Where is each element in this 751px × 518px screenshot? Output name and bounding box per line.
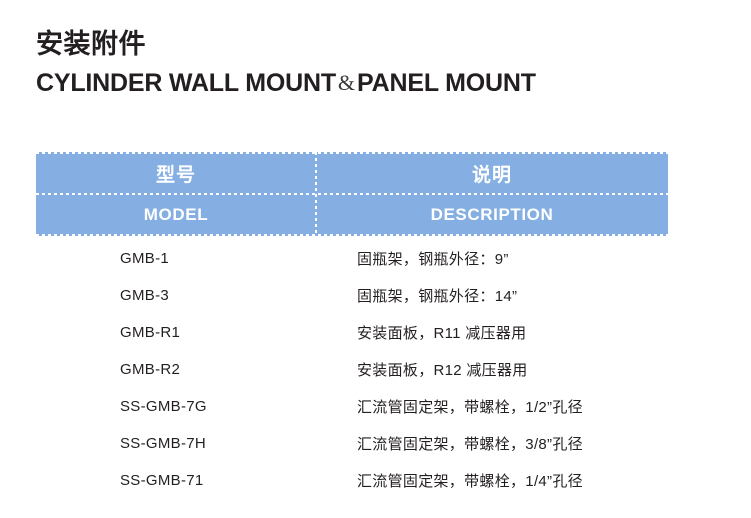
page-title-english-left: CYLINDER WALL MOUNT: [36, 69, 336, 97]
cell-model: GMB-1: [36, 250, 316, 267]
header-cell-model-english: MODEL: [36, 194, 316, 236]
cell-model: SS-GMB-71: [36, 472, 316, 489]
page-title-english-right: PANEL MOUNT: [357, 69, 536, 97]
cell-model: GMB-R1: [36, 324, 316, 341]
header-rule-middle: [36, 193, 668, 195]
header-rule-vertical: [315, 152, 317, 236]
table-header: 型号 说明 MODEL DESCRIPTION: [36, 152, 668, 236]
header-cell-model-chinese: 型号: [36, 152, 316, 194]
header-label-description-english: DESCRIPTION: [431, 205, 554, 225]
header-rule-top: [36, 152, 668, 154]
header-cell-description-chinese: 说明: [316, 152, 668, 194]
header-label-model-chinese: 型号: [156, 160, 196, 187]
table-row: GMB-R1安装面板，R11 减压器用: [36, 314, 668, 351]
table-row: SS-GMB-71汇流管固定架，带螺栓，1/4”孔径: [36, 462, 668, 499]
header-label-description-chinese: 说明: [472, 160, 512, 187]
cell-description: 安装面板，R11 减压器用: [316, 322, 668, 343]
table-row: GMB-3固瓶架，钢瓶外径：14”: [36, 277, 668, 314]
page-title-chinese: 安装附件: [36, 28, 696, 62]
table-header-row-english: MODEL DESCRIPTION: [36, 194, 668, 236]
table-row: GMB-1固瓶架，钢瓶外径：9”: [36, 240, 668, 277]
cell-description: 汇流管固定架，带螺栓，3/8”孔径: [316, 433, 668, 454]
page-title-english: CYLINDER WALL MOUNT&PANEL MOUNT: [36, 70, 696, 98]
cell-description: 固瓶架，钢瓶外径：9”: [316, 248, 668, 269]
table-body: GMB-1固瓶架，钢瓶外径：9”GMB-3固瓶架，钢瓶外径：14”GMB-R1安…: [36, 236, 668, 499]
cell-model: GMB-3: [36, 287, 316, 304]
cell-description: 汇流管固定架，带螺栓，1/4”孔径: [316, 470, 668, 491]
cell-model: SS-GMB-7G: [36, 398, 316, 415]
header-label-model-english: MODEL: [144, 205, 208, 225]
cell-description: 安装面板，R12 减压器用: [316, 359, 668, 380]
header-rule-bottom: [36, 234, 668, 236]
table-row: SS-GMB-7G汇流管固定架，带螺栓，1/2”孔径: [36, 388, 668, 425]
specification-table: 型号 说明 MODEL DESCRIPTION GMB-1固瓶架，钢瓶外径：9”…: [36, 152, 668, 499]
header-cell-description-english: DESCRIPTION: [316, 194, 668, 236]
table-header-row-chinese: 型号 说明: [36, 152, 668, 194]
table-row: SS-GMB-7H汇流管固定架，带螺栓，3/8”孔径: [36, 425, 668, 462]
cell-model: GMB-R2: [36, 361, 316, 378]
cell-description: 固瓶架，钢瓶外径：14”: [316, 285, 668, 306]
table-row: GMB-R2安装面板，R12 减压器用: [36, 351, 668, 388]
cell-description: 汇流管固定架，带螺栓，1/2”孔径: [316, 396, 668, 417]
ampersand-glyph: &: [336, 70, 357, 95]
cell-model: SS-GMB-7H: [36, 435, 316, 452]
page-title-block: 安装附件 CYLINDER WALL MOUNT&PANEL MOUNT: [36, 28, 696, 97]
